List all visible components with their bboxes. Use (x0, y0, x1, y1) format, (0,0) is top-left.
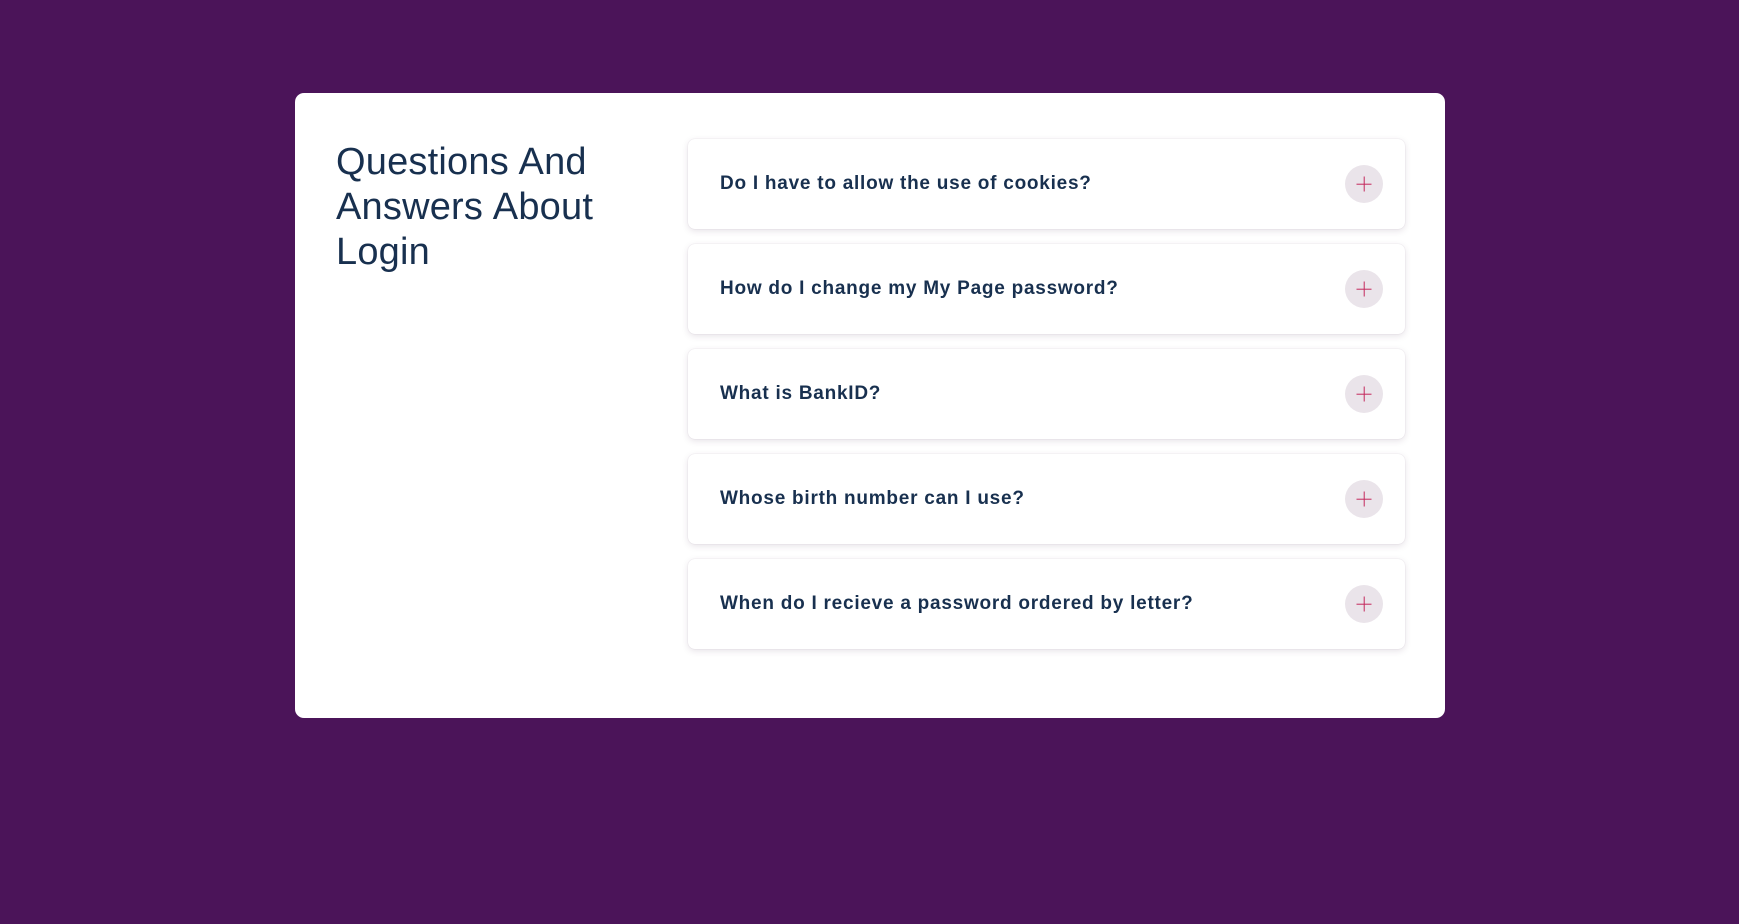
page-root: Questions And Answers About Login Do I h… (0, 0, 1739, 924)
faq-expand-button[interactable] (1345, 375, 1383, 413)
faq-question-label: When do I recieve a password ordered by … (720, 592, 1193, 617)
faq-expand-button[interactable] (1345, 585, 1383, 623)
faq-item[interactable]: When do I recieve a password ordered by … (688, 559, 1405, 649)
faq-panel: Questions And Answers About Login Do I h… (295, 93, 1445, 718)
plus-icon (1357, 597, 1372, 612)
faq-item[interactable]: Do I have to allow the use of cookies? (688, 139, 1405, 229)
faq-accordion-list: Do I have to allow the use of cookies? H… (687, 93, 1445, 649)
faq-item[interactable]: What is BankID? (688, 349, 1405, 439)
faq-heading-column: Questions And Answers About Login (295, 93, 687, 276)
faq-question-label: How do I change my My Page password? (720, 277, 1119, 302)
faq-item[interactable]: How do I change my My Page password? (688, 244, 1405, 334)
faq-expand-button[interactable] (1345, 165, 1383, 203)
faq-question-label: Whose birth number can I use? (720, 487, 1025, 512)
faq-question-label: What is BankID? (720, 382, 881, 407)
faq-question-label: Do I have to allow the use of cookies? (720, 172, 1092, 197)
faq-expand-button[interactable] (1345, 270, 1383, 308)
page-title: Questions And Answers About Login (336, 140, 657, 276)
faq-expand-button[interactable] (1345, 480, 1383, 518)
faq-item[interactable]: Whose birth number can I use? (688, 454, 1405, 544)
plus-icon (1357, 492, 1372, 507)
plus-icon (1357, 282, 1372, 297)
plus-icon (1357, 387, 1372, 402)
plus-icon (1357, 177, 1372, 192)
